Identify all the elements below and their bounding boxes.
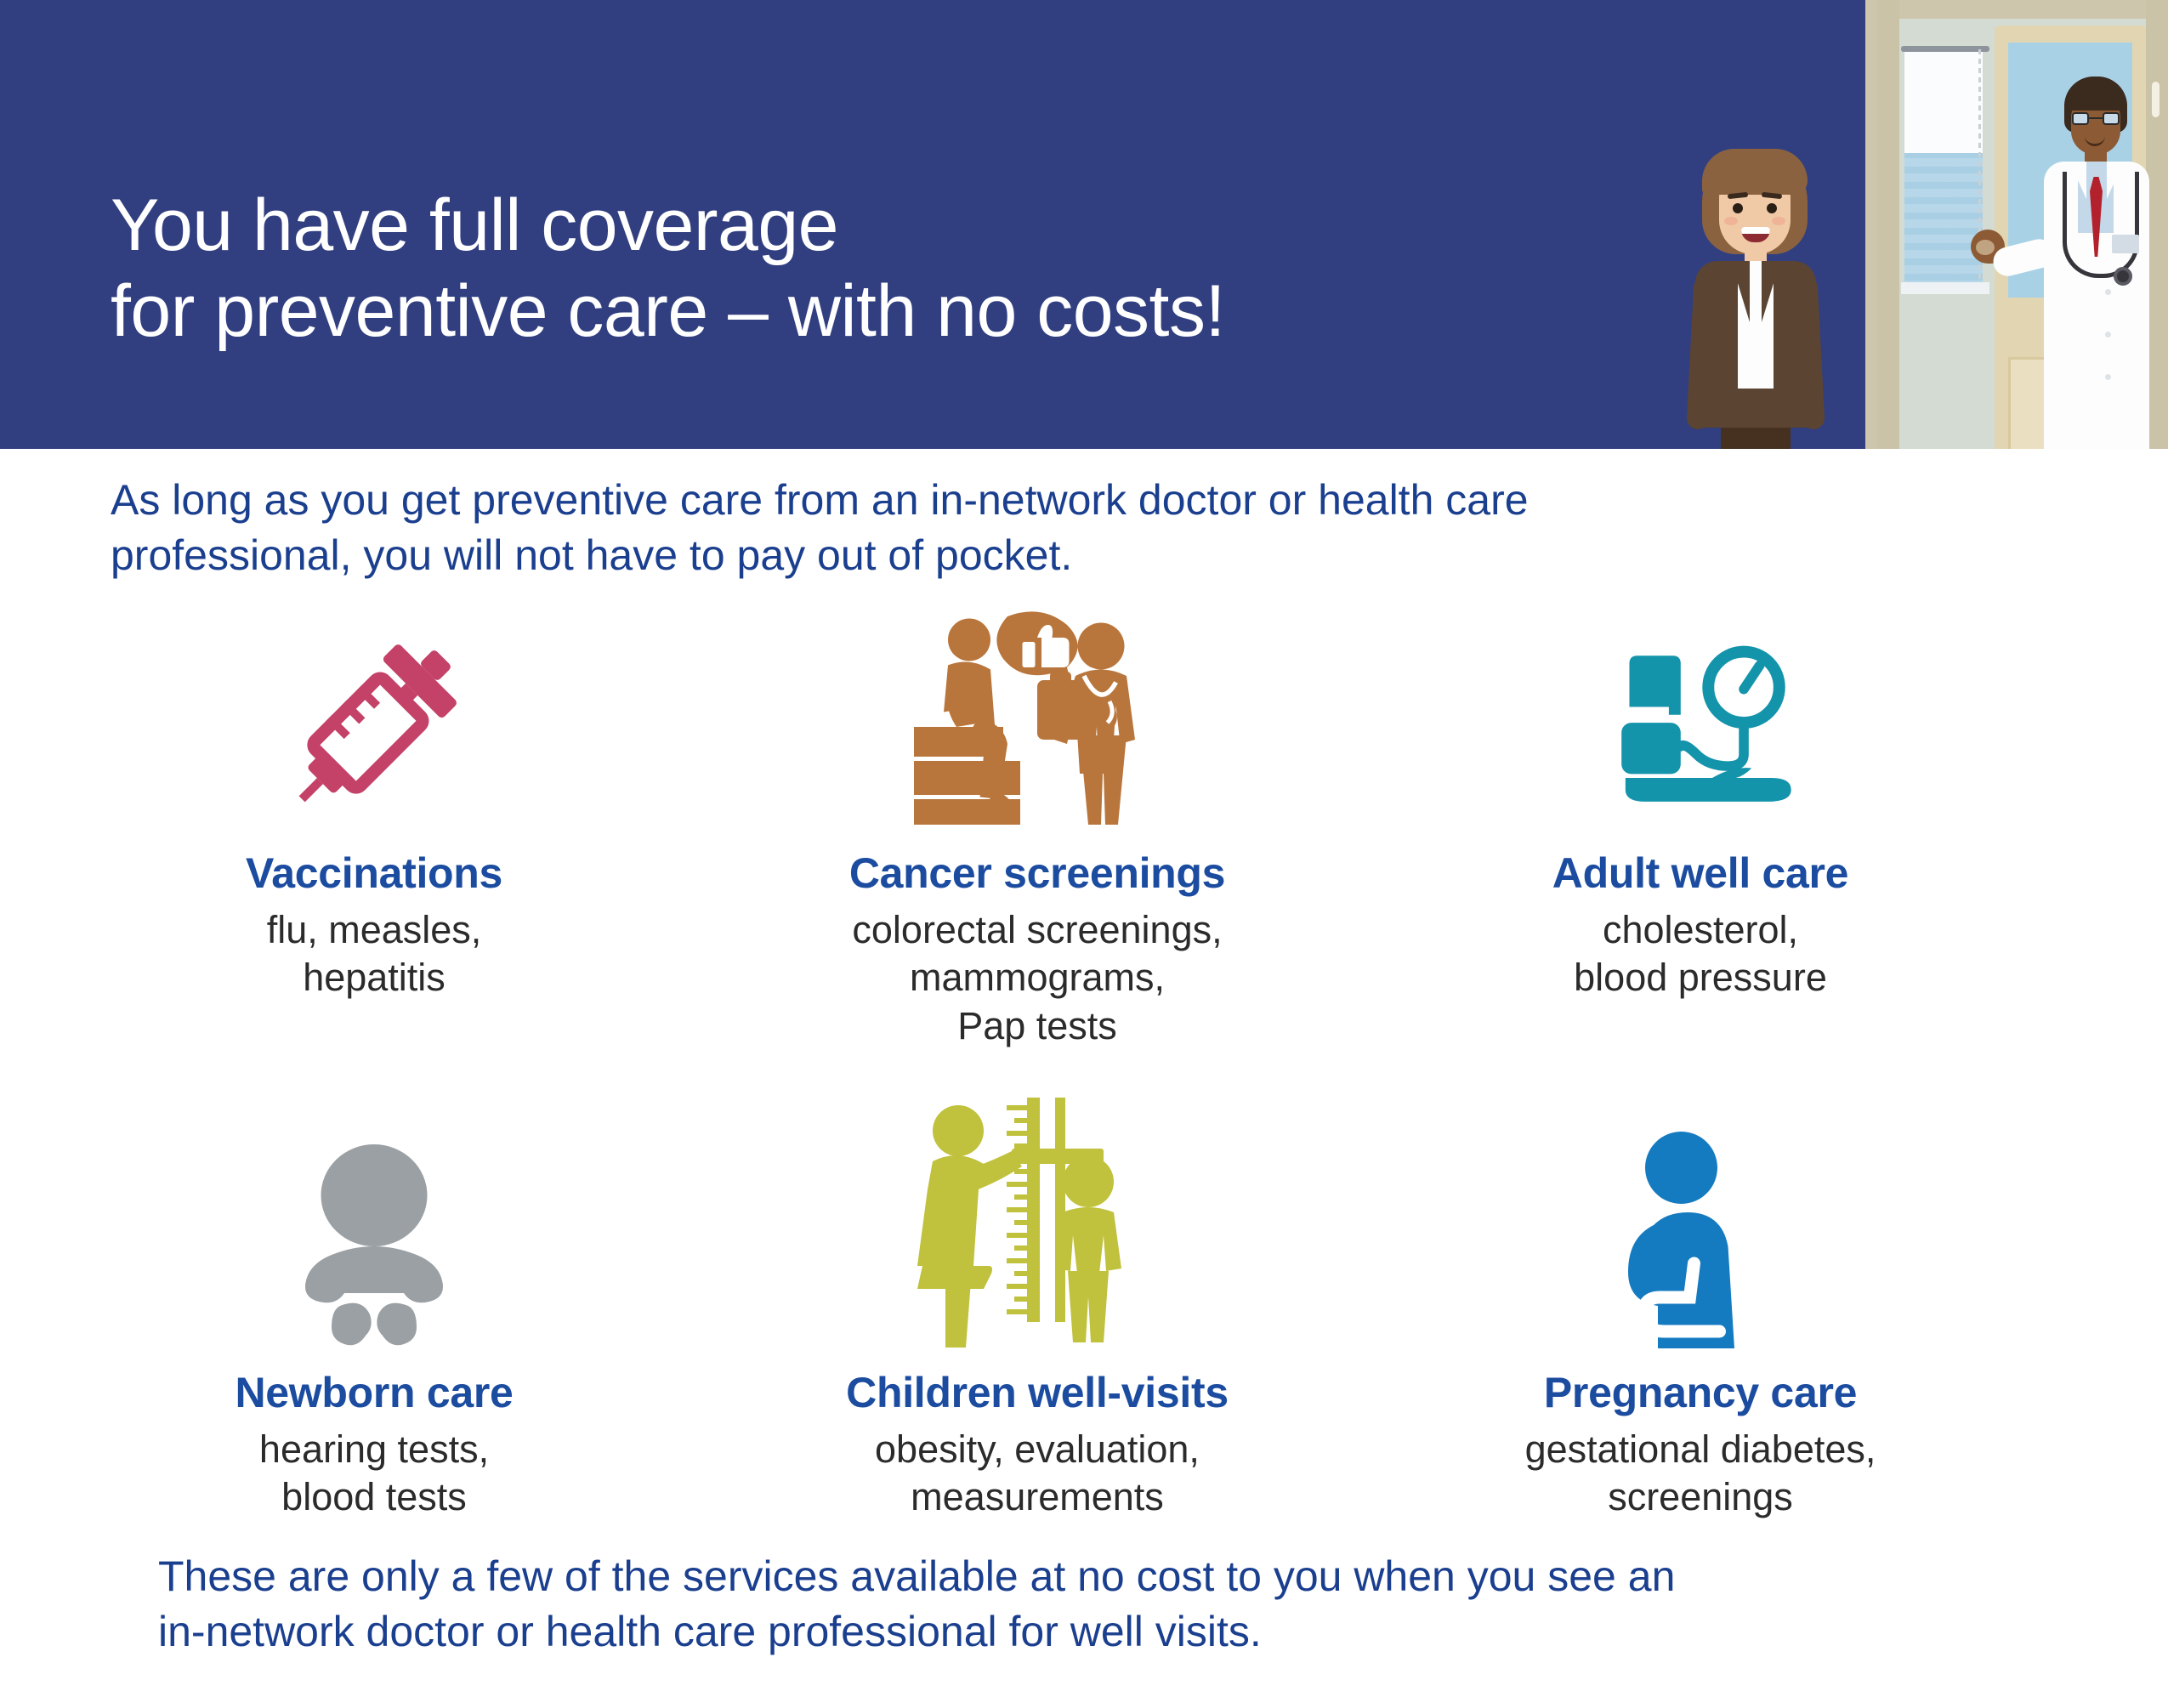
window-sill xyxy=(1901,282,1989,294)
woman-patient-illustration xyxy=(1649,149,1862,449)
baby-icon xyxy=(43,1098,706,1353)
right-cheek-blush xyxy=(1772,217,1785,225)
syringe-icon xyxy=(43,595,706,833)
footer-paragraph: These are only a few of the services ava… xyxy=(158,1549,1944,1660)
card-title: Adult well care xyxy=(1552,848,1848,898)
eyeglasses-bridge xyxy=(2088,117,2103,119)
hand-inner-notch xyxy=(1976,240,1995,255)
height-measurement-icon xyxy=(706,1098,1369,1353)
curtain-rod xyxy=(1901,46,1989,52)
doctor-illustration xyxy=(2032,77,2159,449)
card-title: Pregnancy care xyxy=(1544,1368,1857,1417)
pregnant-woman-icon xyxy=(1369,1098,2032,1353)
doctor-id-badge xyxy=(2112,235,2139,253)
left-wall-trim xyxy=(1877,0,1899,449)
coat-button xyxy=(2105,332,2111,338)
window-building-view xyxy=(1904,153,1983,289)
card-description: hearing tests, blood tests xyxy=(259,1426,489,1522)
benefits-grid: Vaccinations flu, measles, hepatitis xyxy=(0,595,2168,1521)
clinic-room-illustration xyxy=(1865,0,2168,449)
stethoscope-bell xyxy=(2114,267,2132,286)
page-header: You have full coverage for preventive ca… xyxy=(0,0,2168,449)
card-description: obesity, evaluation, measurements xyxy=(875,1426,1200,1522)
card-title: Newborn care xyxy=(235,1368,513,1417)
card-pregnancy-care: Pregnancy care gestational diabetes, scr… xyxy=(1369,1098,2032,1522)
hair-bangs-shape xyxy=(1702,149,1808,195)
card-title: Cancer screenings xyxy=(849,848,1225,898)
coat-button xyxy=(2105,289,2111,295)
card-description: colorectal screenings, mammograms, Pap t… xyxy=(852,906,1222,1050)
right-eye xyxy=(1767,203,1777,213)
page-title: You have full coverage for preventive ca… xyxy=(111,183,1225,355)
card-vaccinations: Vaccinations flu, measles, hepatitis xyxy=(43,595,706,1050)
left-cheek-blush xyxy=(1724,217,1738,225)
stethoscope-icon xyxy=(2063,172,2139,278)
card-title: Children well-visits xyxy=(846,1368,1229,1417)
doctor-hair-top xyxy=(2064,77,2127,111)
coat-button xyxy=(2105,374,2111,380)
card-title: Vaccinations xyxy=(246,848,502,898)
card-description: gestational diabetes, screenings xyxy=(1525,1426,1876,1522)
cardigan-right-lapel xyxy=(1762,261,1780,322)
card-children-well-visits: Children well-visits obesity, evaluation… xyxy=(706,1098,1369,1522)
teeth xyxy=(1741,227,1770,234)
blood-pressure-cuff-icon xyxy=(1369,595,2032,833)
card-newborn-care: Newborn care hearing tests, blood tests xyxy=(43,1098,706,1522)
card-description: flu, measles, hepatitis xyxy=(267,906,482,1002)
doctor-consult-thumbs-up-icon xyxy=(706,595,1369,833)
benefits-row-1: Vaccinations flu, measles, hepatitis xyxy=(0,595,2168,1050)
cardigan-left-lapel xyxy=(1731,261,1750,322)
card-adult-well-care: Adult well care cholesterol, blood press… xyxy=(1369,595,2032,1050)
card-description: cholesterol, blood pressure xyxy=(1574,906,1827,1002)
benefits-row-2: Newborn care hearing tests, blood tests xyxy=(0,1098,2168,1522)
card-cancer-screenings: Cancer screenings colorectal screenings,… xyxy=(706,595,1369,1050)
intro-paragraph: As long as you get preventive care from … xyxy=(111,473,1853,583)
left-eye xyxy=(1733,203,1743,213)
